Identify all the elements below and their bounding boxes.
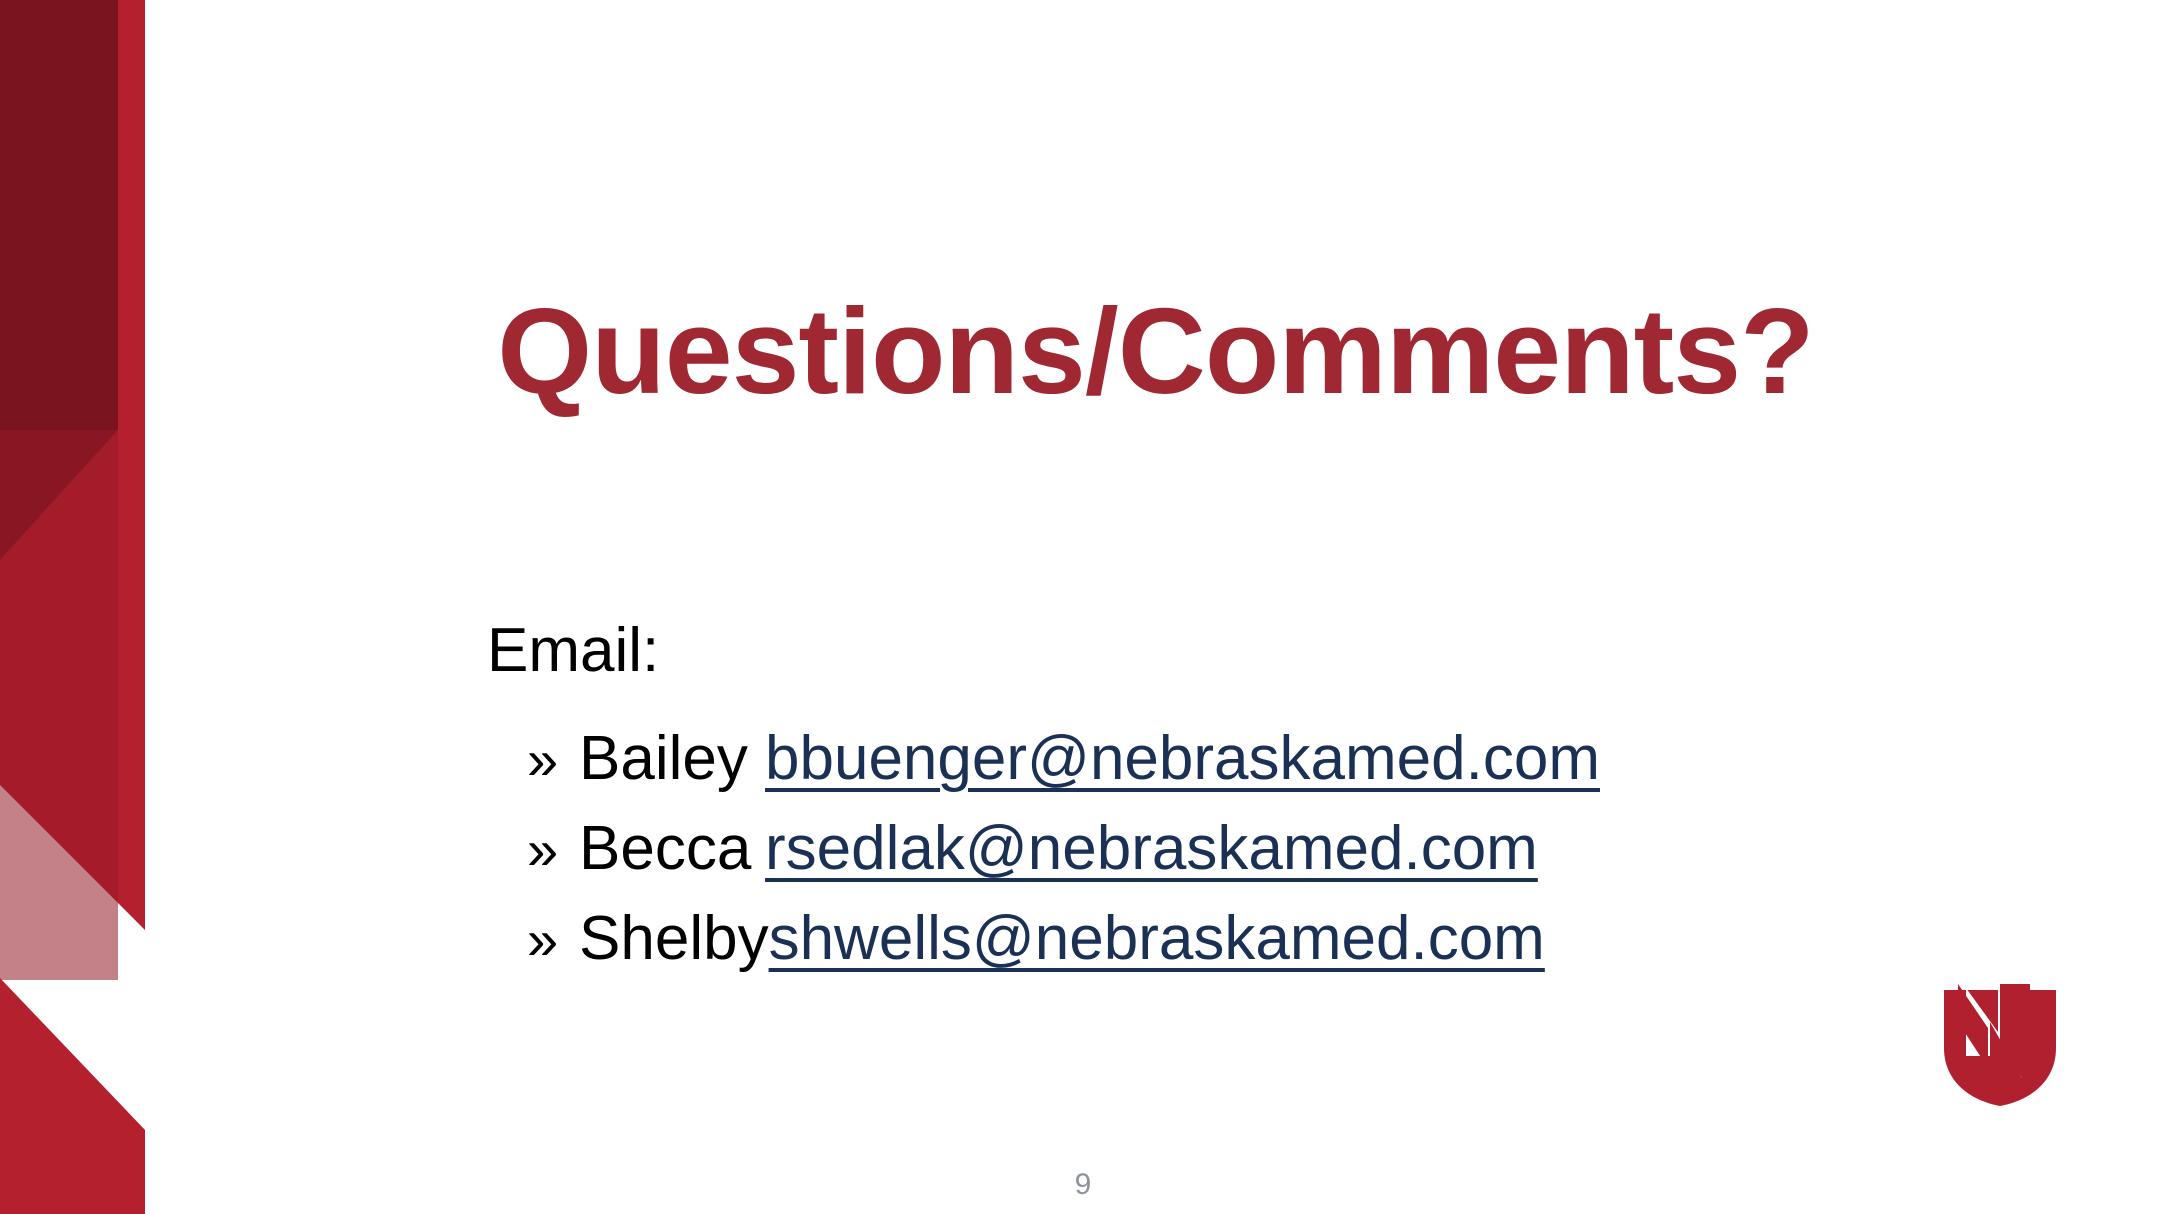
chevron-bullet-icon: » bbox=[527, 912, 579, 968]
band-right-strip bbox=[118, 0, 145, 930]
contact-email-link[interactable]: rsedlak@nebraskamed.com bbox=[765, 818, 1538, 880]
list-item: » Shelby shwells@nebraskamed.com bbox=[487, 908, 1987, 970]
contact-list: » Bailey bbuenger@nebraskamed.com » Becc… bbox=[487, 728, 1987, 970]
chevron-bullet-icon: » bbox=[527, 732, 579, 788]
contact-name: Bailey bbox=[579, 728, 765, 790]
email-section-label: Email: bbox=[487, 620, 1987, 682]
slide-title: Questions/Comments? bbox=[145, 290, 2166, 412]
contact-email-link[interactable]: shwells@nebraskamed.com bbox=[769, 908, 1545, 970]
slide-body: Email: » Bailey bbuenger@nebraskamed.com… bbox=[487, 620, 1987, 970]
list-item: » Bailey bbuenger@nebraskamed.com bbox=[487, 728, 1987, 790]
left-decorative-band bbox=[0, 0, 145, 1214]
presentation-slide: Questions/Comments? Email: » Bailey bbue… bbox=[0, 0, 2166, 1214]
chevron-bullet-icon: » bbox=[527, 822, 579, 878]
contact-email-link[interactable]: bbuenger@nebraskamed.com bbox=[765, 728, 1600, 790]
page-number: 9 bbox=[0, 1170, 2166, 1200]
list-item: » Becca rsedlak@nebraskamed.com bbox=[487, 818, 1987, 880]
contact-name: Shelby bbox=[579, 908, 769, 970]
unmc-shield-n-logo bbox=[1936, 982, 2064, 1110]
contact-name: Becca bbox=[579, 818, 765, 880]
